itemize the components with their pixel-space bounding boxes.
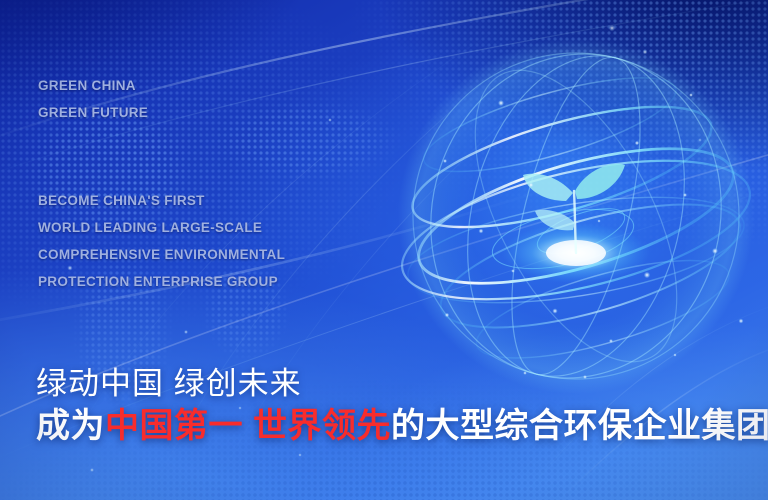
vignette-overlay [0, 0, 768, 500]
hero-banner: GREEN CHINA GREEN FUTURE BECOME CHINA'S … [0, 0, 768, 500]
